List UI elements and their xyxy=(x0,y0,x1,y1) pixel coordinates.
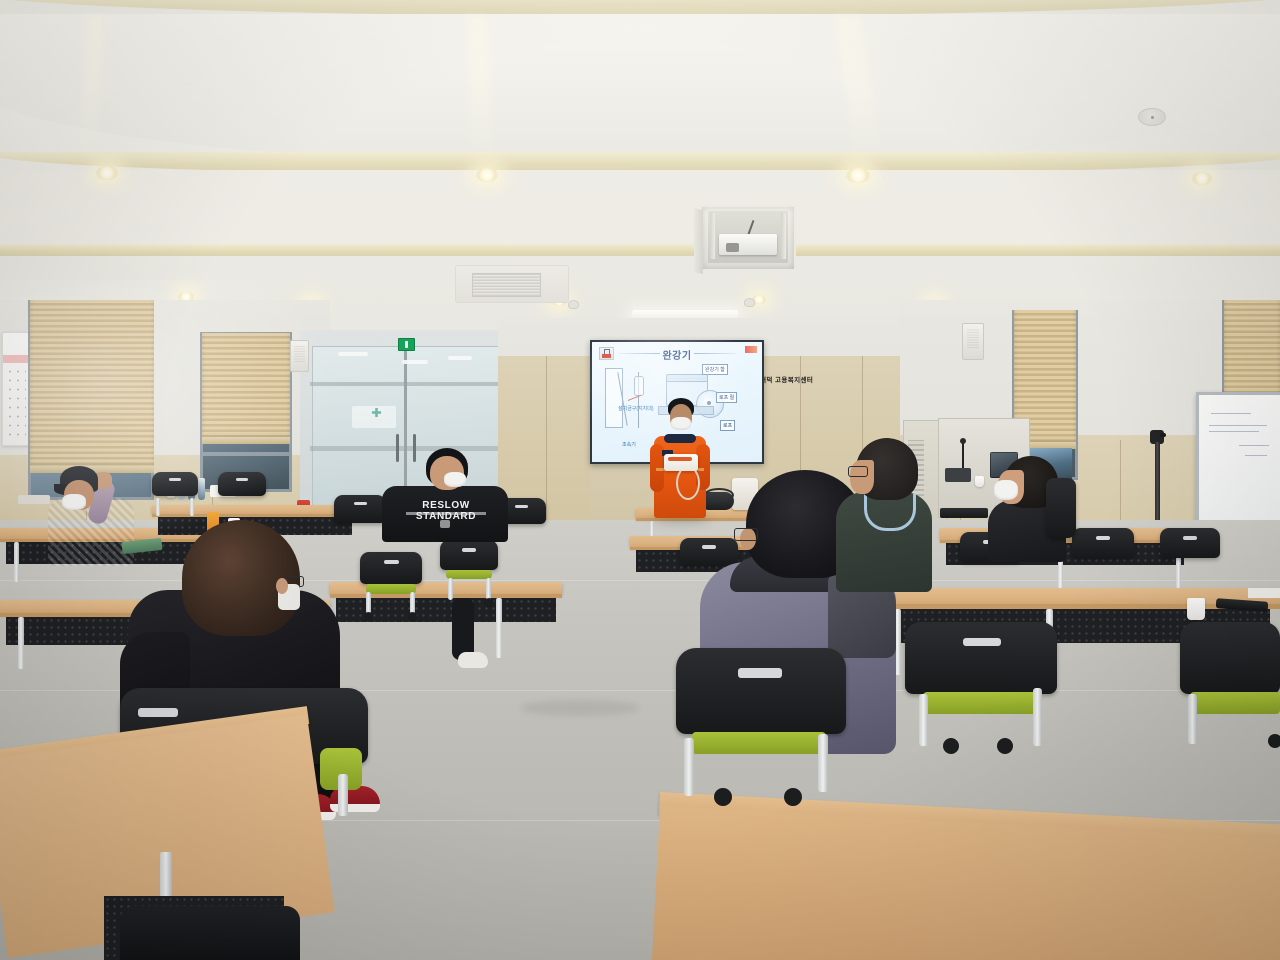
paper-sheet xyxy=(1248,588,1280,598)
chair-frame xyxy=(156,498,160,516)
desk-items xyxy=(945,468,971,482)
paper-cup-desk xyxy=(975,476,984,487)
corridor-light xyxy=(448,356,472,360)
projector-lift-housing xyxy=(700,205,796,271)
chair-back xyxy=(218,472,266,496)
chair-front-right-2[interactable] xyxy=(1180,622,1280,750)
attendee-cap-mask xyxy=(62,494,86,510)
chair-back xyxy=(1160,528,1220,558)
chair-back xyxy=(334,495,386,523)
attendee-tshirt-mask xyxy=(444,472,466,487)
chair-handle-slot xyxy=(515,505,528,508)
lift-cavity xyxy=(708,211,788,263)
chair-handle-slot xyxy=(1183,536,1197,540)
calendar-grid xyxy=(6,367,27,437)
chair-seat xyxy=(366,584,416,594)
chair-seat xyxy=(1190,692,1280,714)
chair-seat xyxy=(446,570,492,579)
attendee-staff-mask xyxy=(994,480,1018,500)
lift-rail xyxy=(781,213,786,259)
chair-caster xyxy=(784,788,802,806)
chair-staff[interactable] xyxy=(1046,478,1082,562)
whiteboard-writing xyxy=(1245,455,1267,456)
corridor-wall-logo xyxy=(352,406,396,428)
chair-mid-left-1[interactable] xyxy=(360,552,422,618)
chair-handle-slot xyxy=(738,668,782,678)
presenter-collar xyxy=(664,434,696,443)
lift-arm xyxy=(747,220,754,234)
chair-back xyxy=(905,622,1057,694)
lift-door-panel xyxy=(694,208,703,274)
chair-handle-slot xyxy=(138,708,178,717)
slide-title: 완강기 xyxy=(592,347,762,362)
chair-caster xyxy=(408,612,417,621)
tripod-knob xyxy=(1160,433,1166,437)
sprinkler-head xyxy=(568,300,579,309)
chair-frame xyxy=(919,694,928,746)
recessed-downlight xyxy=(96,166,118,180)
chair-back xyxy=(676,648,846,734)
blind-bottom-rail xyxy=(202,437,290,444)
chair-caster xyxy=(1268,734,1280,748)
recessed-downlight xyxy=(846,168,870,183)
attendee-vest-glasses xyxy=(734,528,758,541)
table-leg xyxy=(496,598,502,658)
window-blind-left-1 xyxy=(30,300,154,468)
ac-grille xyxy=(472,273,541,297)
diagram-governor xyxy=(634,376,644,396)
ceiling-ac-vent xyxy=(455,265,569,303)
held-device-strap xyxy=(668,457,692,461)
sprinkler-head xyxy=(744,298,755,307)
corridor-light xyxy=(402,360,428,364)
smoke-detector xyxy=(1138,108,1166,126)
whiteboard-writing xyxy=(1239,445,1269,446)
chair-back xyxy=(440,540,498,570)
slide-label-reel: 로프 릴 xyxy=(716,392,737,403)
chair-frame xyxy=(338,774,348,816)
venue-sign: 대덕 고용복지센터 xyxy=(760,374,813,384)
chair-handle-slot xyxy=(462,548,476,552)
corridor-light xyxy=(338,352,368,356)
chair-caster xyxy=(997,738,1013,754)
hand-sanitizer-bottle xyxy=(198,478,205,500)
chair-foreground-left-edge[interactable] xyxy=(120,906,300,960)
wall-speaker-right xyxy=(962,323,984,360)
attendee-tshirt-shoe xyxy=(458,652,488,668)
wall-seam xyxy=(546,356,547,524)
slide-label-governor: 조속기 xyxy=(620,440,638,449)
chair-frame xyxy=(818,734,828,792)
wall-calendar xyxy=(2,332,30,446)
projector-lens xyxy=(726,243,739,252)
chair-handle-slot xyxy=(1096,536,1110,540)
attendee-tshirt-text: RESLOW STANDARD xyxy=(396,500,496,522)
diagram-bracket xyxy=(605,368,623,428)
table-leg xyxy=(18,617,24,669)
classroom-photo: 대덕 고용복지센터 완강기 완강기 함 로프 릴 로프 xyxy=(0,0,1280,960)
slide-label-container: 완강기 함 xyxy=(702,364,728,375)
chair-back-left-2[interactable] xyxy=(218,472,266,518)
chair-seat xyxy=(923,692,1039,714)
chair-handle-slot xyxy=(384,560,399,564)
chair-back xyxy=(1046,478,1076,538)
ceiling xyxy=(0,0,1280,340)
recessed-downlight xyxy=(476,168,498,182)
paper-cup-front xyxy=(1187,598,1205,620)
chair-frame xyxy=(448,578,453,600)
chair-frame xyxy=(1188,694,1197,744)
table-leg xyxy=(14,542,19,582)
exit-sign xyxy=(398,338,415,351)
recessed-downlight xyxy=(1192,172,1212,185)
presenter-face-mask xyxy=(671,417,691,430)
attendee-tshirt-leg xyxy=(452,598,474,660)
chair-frame xyxy=(190,498,194,516)
chair-caster xyxy=(943,738,959,754)
rope-loop xyxy=(676,466,700,500)
window-blind-left-2 xyxy=(202,333,290,439)
chair-frame xyxy=(486,578,491,600)
attendee-lanyard-glasses xyxy=(848,466,868,477)
window-mullion xyxy=(200,452,292,456)
chair-frame xyxy=(1033,688,1042,746)
chair-back xyxy=(152,472,198,496)
chair-back xyxy=(360,552,422,584)
calendar-header-band xyxy=(3,355,29,363)
attendee-lanyard xyxy=(836,438,946,590)
diagram-case-lid xyxy=(666,374,708,382)
chair-back-left-1[interactable] xyxy=(152,472,198,518)
chair-back xyxy=(1180,622,1280,694)
chair-right-4[interactable] xyxy=(1160,528,1220,588)
attendee-tshirt-logo xyxy=(440,520,450,528)
attendee-tshirt-subtext xyxy=(406,512,486,515)
door-transom-rail xyxy=(310,382,502,386)
wall-speaker-left xyxy=(290,340,309,372)
floor-scuff xyxy=(520,700,640,716)
whiteboard-writing xyxy=(1209,431,1259,432)
chair-frame xyxy=(684,738,694,796)
chair-handle-slot xyxy=(354,502,367,505)
chair-foreground-center[interactable] xyxy=(676,648,846,804)
chair-frame xyxy=(410,592,415,614)
keyboard[interactable] xyxy=(940,508,988,518)
chair-seat xyxy=(692,732,826,754)
chair-caster xyxy=(484,598,494,608)
slide-label-rope: 로프 xyxy=(720,420,735,431)
whiteboard-writing xyxy=(1209,425,1267,426)
chair-caster xyxy=(714,788,732,806)
chair-handle-slot xyxy=(169,478,181,481)
attendee-tshirt: RESLOW STANDARD xyxy=(382,448,512,544)
diagram-arrow xyxy=(628,395,641,401)
attendee-curly-ear xyxy=(276,578,288,594)
lift-rail xyxy=(710,213,715,259)
chair-handle-slot xyxy=(236,478,248,481)
chair-mid-left-2[interactable] xyxy=(440,540,498,604)
whiteboard-writing xyxy=(1211,413,1251,414)
chair-handle-slot xyxy=(963,638,1001,646)
chair-front-right-1[interactable] xyxy=(905,622,1057,752)
